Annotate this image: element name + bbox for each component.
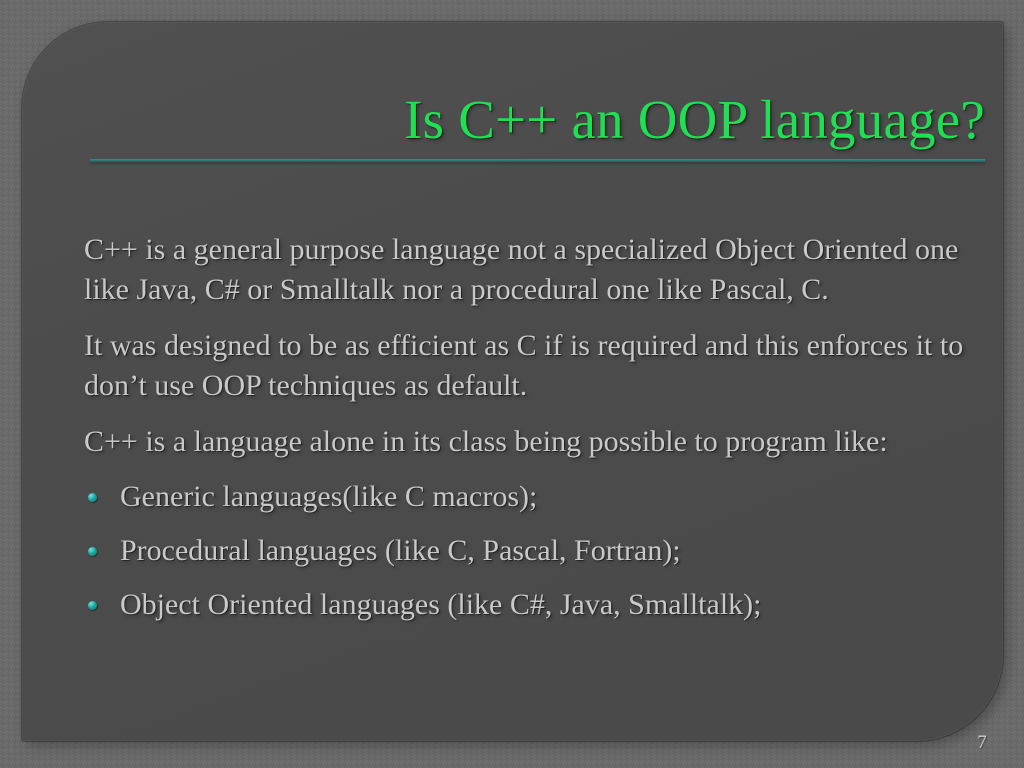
body-paragraph-2: It was designed to be as efficient as C …	[84, 326, 989, 406]
title-block: Is C++ an OOP language?	[90, 90, 985, 162]
body-paragraph-3: C++ is a language alone in its class bei…	[84, 422, 989, 462]
list-item-label: Procedural languages (like C, Pascal, Fo…	[120, 534, 681, 567]
bullet-dot-icon	[88, 493, 97, 502]
slide-frame: Is C++ an OOP language? C++ is a general…	[0, 0, 1024, 768]
list-item: Object Oriented languages (like C#, Java…	[84, 585, 989, 625]
slide-content-panel: Is C++ an OOP language? C++ is a general…	[22, 22, 1003, 741]
list-item: Generic languages(like C macros);	[84, 477, 989, 517]
bullet-dot-icon	[88, 601, 97, 610]
bullet-list: Generic languages(like C macros); Proced…	[84, 477, 989, 625]
slide-body: C++ is a general purpose language not a …	[84, 230, 989, 625]
bullet-dot-icon	[88, 547, 97, 556]
list-item-label: Object Oriented languages (like C#, Java…	[120, 588, 761, 621]
list-item-label: Generic languages(like C macros);	[120, 480, 537, 513]
title-underline-rule	[90, 159, 985, 162]
page-title: Is C++ an OOP language?	[90, 90, 985, 149]
list-item: Procedural languages (like C, Pascal, Fo…	[84, 531, 989, 571]
page-number: 7	[962, 732, 1002, 754]
body-paragraph-1: C++ is a general purpose language not a …	[84, 230, 989, 310]
